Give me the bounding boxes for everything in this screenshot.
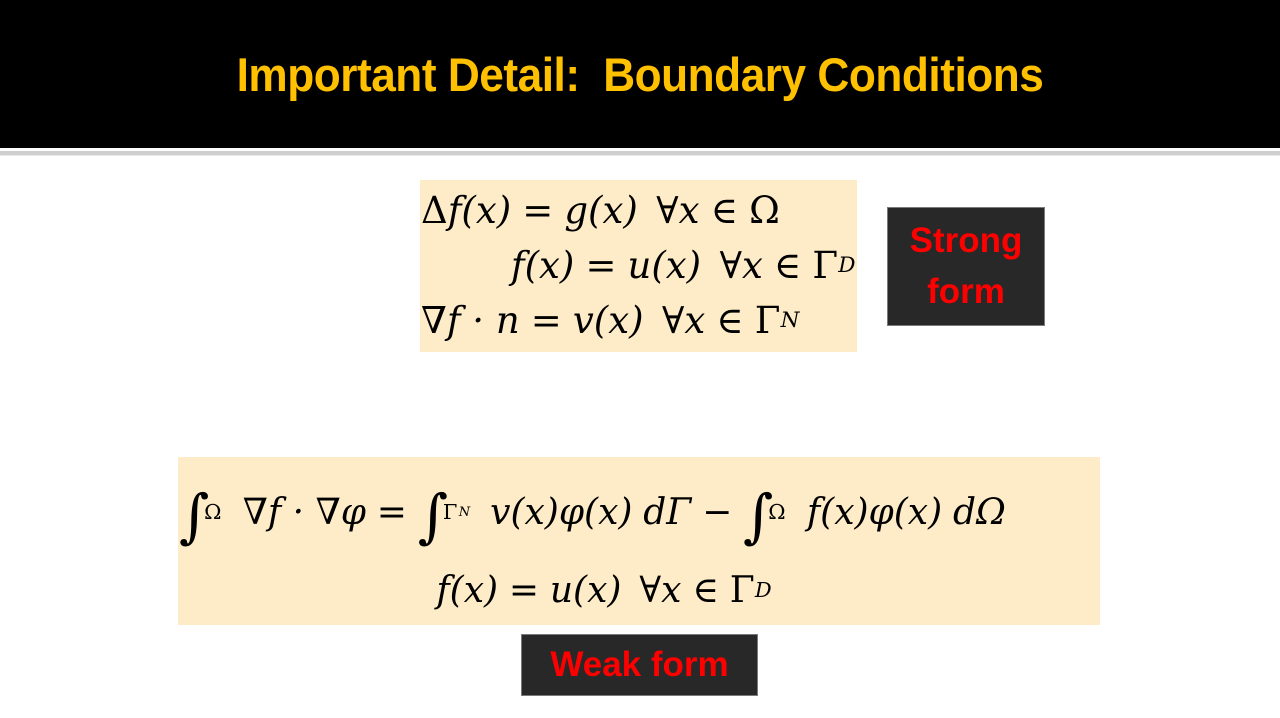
equation-strong-3: ∇f · n=v(x)∀x∈ΓN [419, 294, 858, 349]
equation-strong-3-member: ∈ [716, 302, 743, 341]
strong-form-equation-block: Δf(x)=g(x)∀x∈Ω f(x)=u(x)∀x∈ΓD ∇f · n=v(x… [420, 180, 857, 352]
gradient-operator-symbol: ∇ [421, 302, 447, 341]
equation-weak-2-lhs: f(x) [436, 572, 498, 610]
equation-strong-1-quantifier: ∀x [656, 192, 699, 231]
equation-strong-1-lhs: f(x) [448, 192, 511, 231]
strong-form-callout-label: Strong form [888, 208, 1044, 325]
equation-strong-3-quantifier: ∀x [662, 302, 705, 341]
equation-strong-1-relation: = [522, 192, 553, 231]
equation-strong-2-domain-subscript: D [838, 255, 855, 278]
equation-weak-1-sign: − [702, 494, 732, 532]
integrand-2: v(x)φ(x) [490, 494, 632, 532]
integral-symbol-3: ∫ [743, 486, 773, 547]
equation-strong-2-lhs: f(x) [511, 247, 574, 286]
equation-strong-3-domain-subscript: N [781, 310, 800, 333]
equation-weak-2-member: ∈ [692, 572, 719, 610]
equation-weak-2-quantifier: ∀x [639, 572, 681, 610]
equation-weak-2-rhs: u(x) [550, 572, 622, 610]
equation-strong-1-domain: Ω [749, 192, 780, 231]
equation-weak-2-relation: = [509, 572, 539, 610]
weak-form-equation-block: ∫Ω∇f · ∇φ=∫ΓNv(x)φ(x)dΓ−∫Ωf(x)φ(x)dΩ f(x… [178, 457, 1100, 625]
equation-strong-2-quantifier: ∀x [720, 247, 763, 286]
equation-strong-3-rhs: v(x) [573, 302, 644, 341]
integrand-3: f(x)φ(x) [807, 494, 942, 532]
integrand-1: ∇f · ∇φ [243, 494, 366, 532]
measure-3: dΩ [953, 494, 1006, 532]
equation-weak-2: f(x)=u(x)∀x∈ΓD [143, 563, 1135, 619]
equation-strong-3-lhs: f · n [447, 302, 520, 341]
integral-symbol-1: ∫ [179, 486, 209, 547]
equation-weak-1: ∫Ω∇f · ∇φ=∫ΓNv(x)φ(x)dΓ−∫Ωf(x)φ(x)dΩ [177, 463, 1101, 563]
integral-symbol-2: ∫ [418, 486, 448, 547]
laplacian-operator-symbol: Δ [421, 192, 448, 231]
weak-form-callout-label: Weak form [522, 635, 757, 695]
equation-weak-2-domain-subscript: D [755, 580, 772, 602]
equation-strong-2-domain: Γ [812, 247, 838, 286]
integral-2-subscript-modifier: N [459, 506, 470, 520]
title-divider-gray-light [0, 155, 1280, 156]
page-title: Important Detail: Boundary Conditions [38, 0, 1241, 148]
equation-strong-1-rhs: g(x) [564, 192, 637, 231]
equation-strong-1-member: ∈ [711, 192, 738, 231]
measure-2: dΓ [643, 494, 691, 532]
equation-strong-3-domain: Γ [755, 302, 781, 341]
equation-strong-2-member: ∈ [774, 247, 801, 286]
equation-strong-2-relation: = [585, 247, 616, 286]
equation-strong-1: Δf(x)=g(x)∀x∈Ω [419, 184, 858, 239]
equation-strong-2: f(x)=u(x)∀x∈ΓD [419, 239, 859, 294]
equation-weak-1-relation: = [377, 494, 407, 532]
equation-strong-2-rhs: u(x) [628, 247, 702, 286]
equation-strong-3-relation: = [531, 302, 562, 341]
equation-weak-2-domain: Γ [730, 572, 755, 610]
